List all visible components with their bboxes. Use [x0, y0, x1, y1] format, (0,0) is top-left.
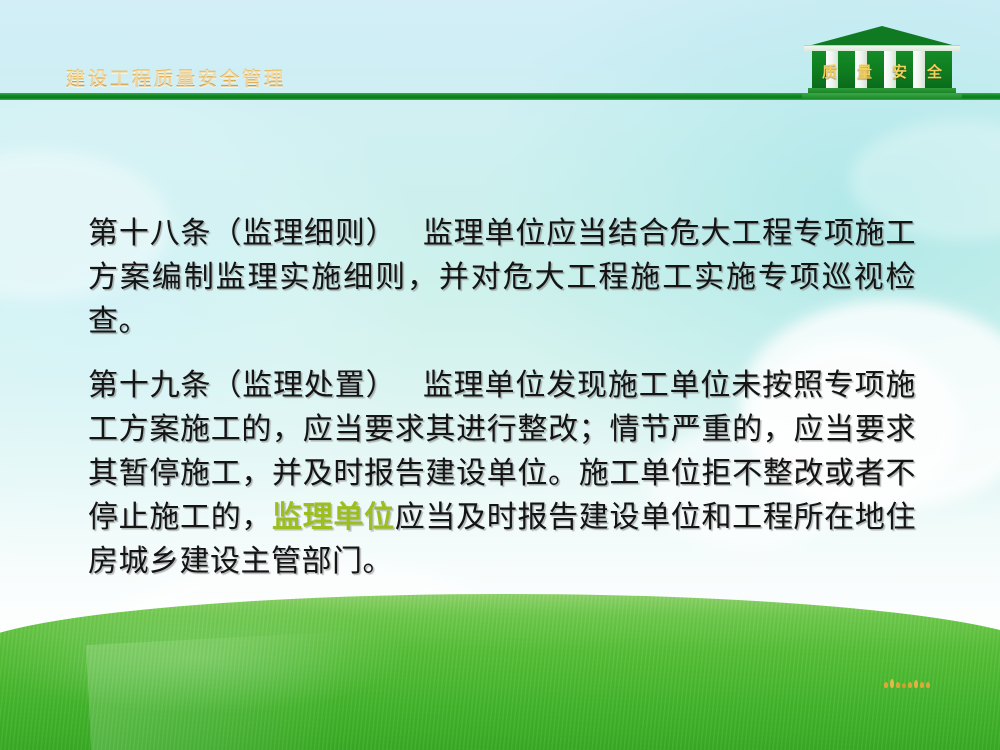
paragraph-article-19: 第十九条（监理处置）监理单位发现施工单位未按照专项施工方案施工的，应当要求其进行… — [88, 364, 916, 584]
paragraph-article-18: 第十八条（监理细则）监理单位应当结合危大工程专项施工方案编制监理实施细则，并对危… — [88, 212, 916, 344]
logo-char-4: 全 — [927, 61, 942, 82]
temple-pediment-icon — [808, 26, 956, 46]
slide-header: 建设工程质量安全管理 质 量 安 全 — [0, 0, 1000, 102]
quality-safety-temple-logo: 质 量 安 全 — [802, 26, 962, 102]
slide-canvas: 建设工程质量安全管理 质 量 安 全 第十八条（监理细则）监理单位应当结合危大工… — [0, 0, 1000, 750]
logo-char-2: 量 — [857, 61, 872, 82]
logo-text: 质 量 安 全 — [812, 61, 952, 82]
article-18-label: 第十八条（监理细则） — [88, 216, 396, 251]
temple-stylobate-lower — [802, 93, 962, 99]
grass-meadow-decoration — [0, 594, 1000, 750]
article-19-label: 第十九条（监理处置） — [88, 368, 396, 403]
grass-highlight-ridge — [86, 623, 514, 750]
page-title: 建设工程质量安全管理 — [66, 64, 286, 91]
article-19-emphasis: 监理单位 — [272, 500, 395, 535]
logo-char-3: 安 — [892, 61, 907, 82]
flower-cluster-icon — [884, 676, 954, 688]
slide-body: 第十八条（监理细则）监理单位应当结合危大工程专项施工方案编制监理实施细则，并对危… — [88, 212, 916, 584]
logo-char-1: 质 — [822, 61, 837, 82]
